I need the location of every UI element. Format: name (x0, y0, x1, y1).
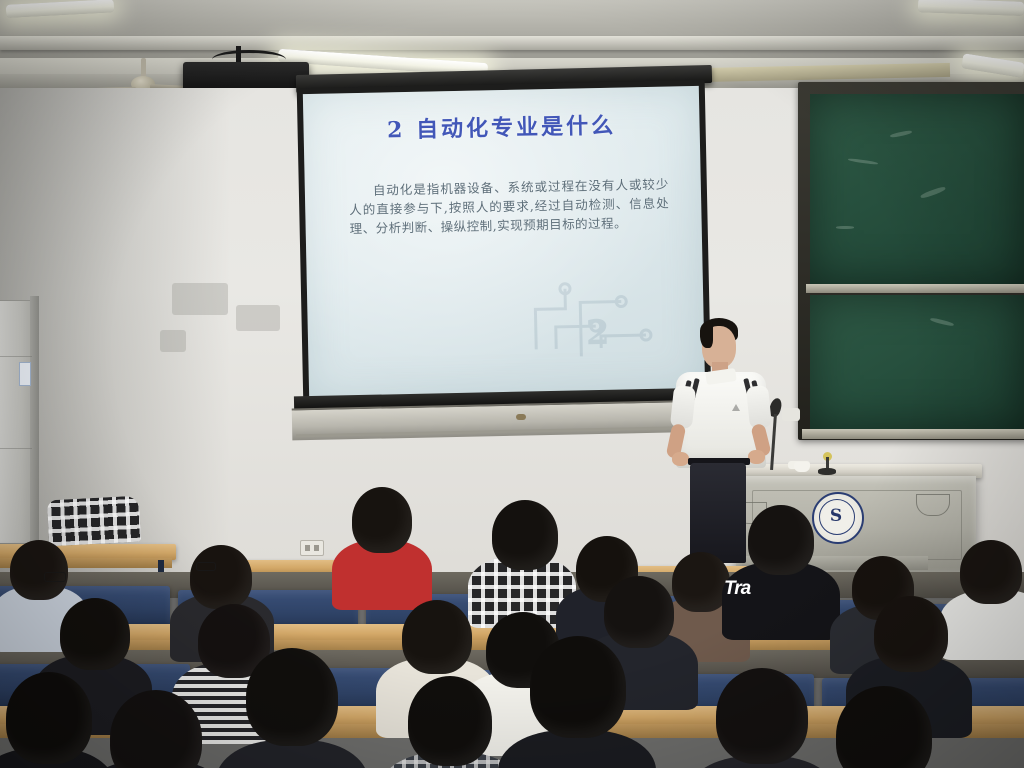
presenter-sleeve-right (746, 385, 772, 429)
cabinet-seam (0, 448, 32, 449)
wall-scuff (236, 305, 280, 331)
ceiling-beam (0, 36, 1024, 50)
projection-screen: 2 自动化专业是什么 自动化是指机器设备、系统或过程在没有人或较少人的直接参与下… (303, 86, 705, 400)
wall-outlet[interactable] (300, 540, 324, 556)
seal-monogram: S (814, 506, 858, 526)
person-head (716, 668, 808, 764)
presenter-hand-left (672, 452, 689, 466)
circuit-board-watermark-icon: 2 (525, 277, 657, 360)
projector-cable (212, 50, 286, 69)
person-head (6, 672, 92, 764)
plaid-bag (47, 496, 141, 547)
cabinet-seam (0, 356, 32, 357)
tshirt-text: Tra (724, 578, 750, 600)
screen-tray-knob (516, 414, 526, 420)
chalkboard-rail (806, 284, 1024, 293)
university-seal-icon: S (812, 492, 864, 544)
chalk-mark (836, 226, 854, 229)
svg-text:2: 2 (585, 313, 610, 353)
person-head (530, 636, 626, 738)
person-head (60, 598, 130, 670)
presenter-trousers (690, 463, 746, 563)
chalkboard-lower-rail (802, 429, 1024, 439)
person-head (492, 500, 558, 570)
person-head (874, 596, 948, 672)
podium-mic-base (818, 468, 836, 475)
presenter-hand-right (748, 450, 765, 464)
person-head (604, 576, 674, 648)
person-head (190, 545, 252, 609)
presenter-hair-side (700, 322, 713, 348)
cabinet-label (19, 362, 31, 386)
person-head (748, 505, 814, 575)
chalkboard-lower (810, 295, 1024, 429)
eyeglasses-icon (44, 572, 66, 582)
ceiling (0, 0, 1024, 62)
slide-body-text: 自动化是指机器设备、系统或过程在没有人或较少人的直接参与下,按照人的要求,经过自… (349, 175, 670, 239)
podium-emblem-right-icon (916, 494, 950, 516)
wall-scuff (172, 283, 228, 315)
person-head (10, 540, 68, 600)
microphone-pack (782, 408, 800, 421)
wall-scuff (160, 330, 186, 352)
outlet-slot (314, 545, 319, 551)
person-head (402, 600, 472, 674)
person-head (960, 540, 1022, 604)
person-head (408, 676, 492, 766)
person-head (352, 487, 412, 553)
eyeglasses-icon (196, 562, 216, 571)
presenter-shirt-logo-icon (732, 404, 740, 411)
cabinet-post (30, 296, 39, 548)
outlet-slot (305, 545, 310, 551)
podium-cup (794, 462, 810, 472)
lecture-hall-photo: 2 自动化专业是什么 自动化是指机器设备、系统或过程在没有人或较少人的直接参与下… (0, 0, 1024, 768)
chalkboard (810, 94, 1024, 284)
presenter-sleeve-left (670, 385, 696, 429)
person-head (246, 648, 338, 746)
